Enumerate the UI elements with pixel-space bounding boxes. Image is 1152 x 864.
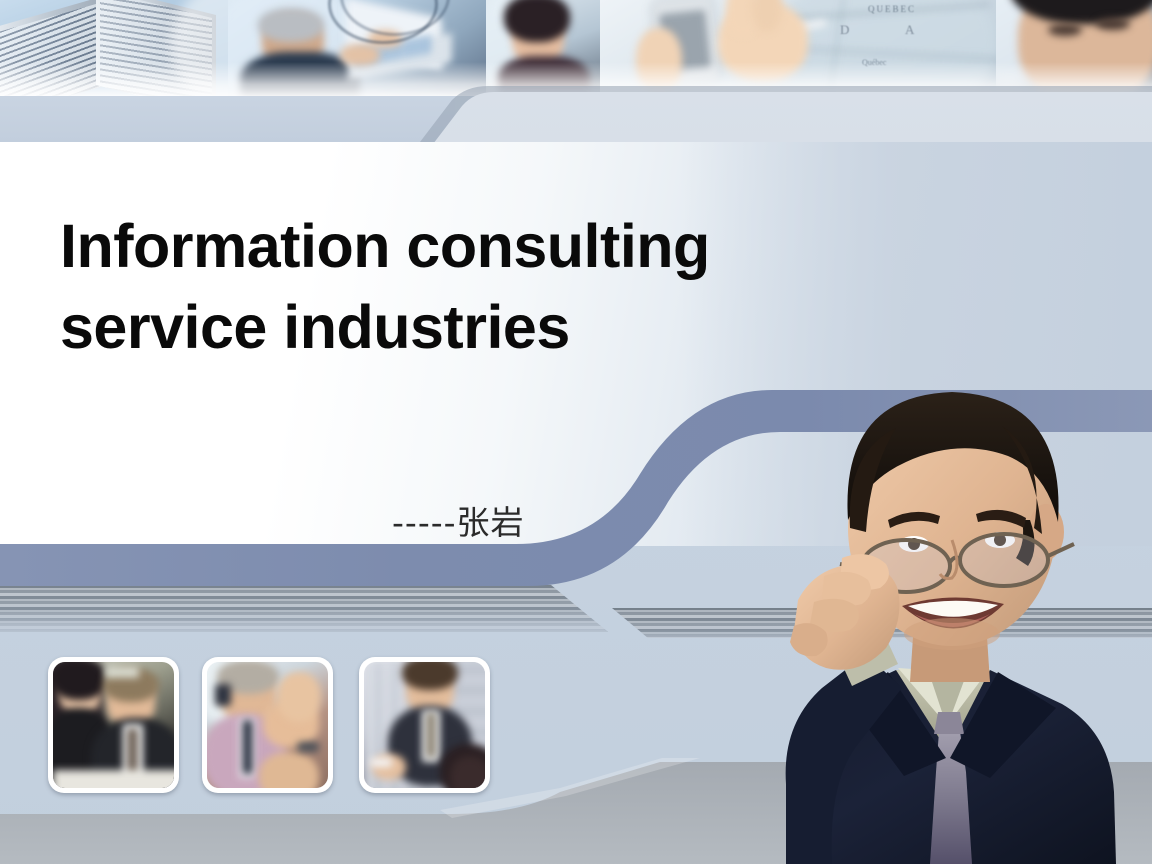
presentation-slide: QUEBEC D A Québec — [0, 0, 1152, 864]
thumbnail-3-image — [364, 662, 485, 788]
page-title: Information consulting service industrie… — [60, 206, 880, 367]
thumbnail-1[interactable] — [48, 657, 179, 793]
thumbnail-2-image — [207, 662, 328, 788]
thumbnail-1-image — [53, 662, 174, 788]
thumbnail-2[interactable] — [202, 657, 333, 793]
hero-photo-man-glasses — [690, 352, 1152, 864]
thumbnail-3[interactable] — [359, 657, 490, 793]
